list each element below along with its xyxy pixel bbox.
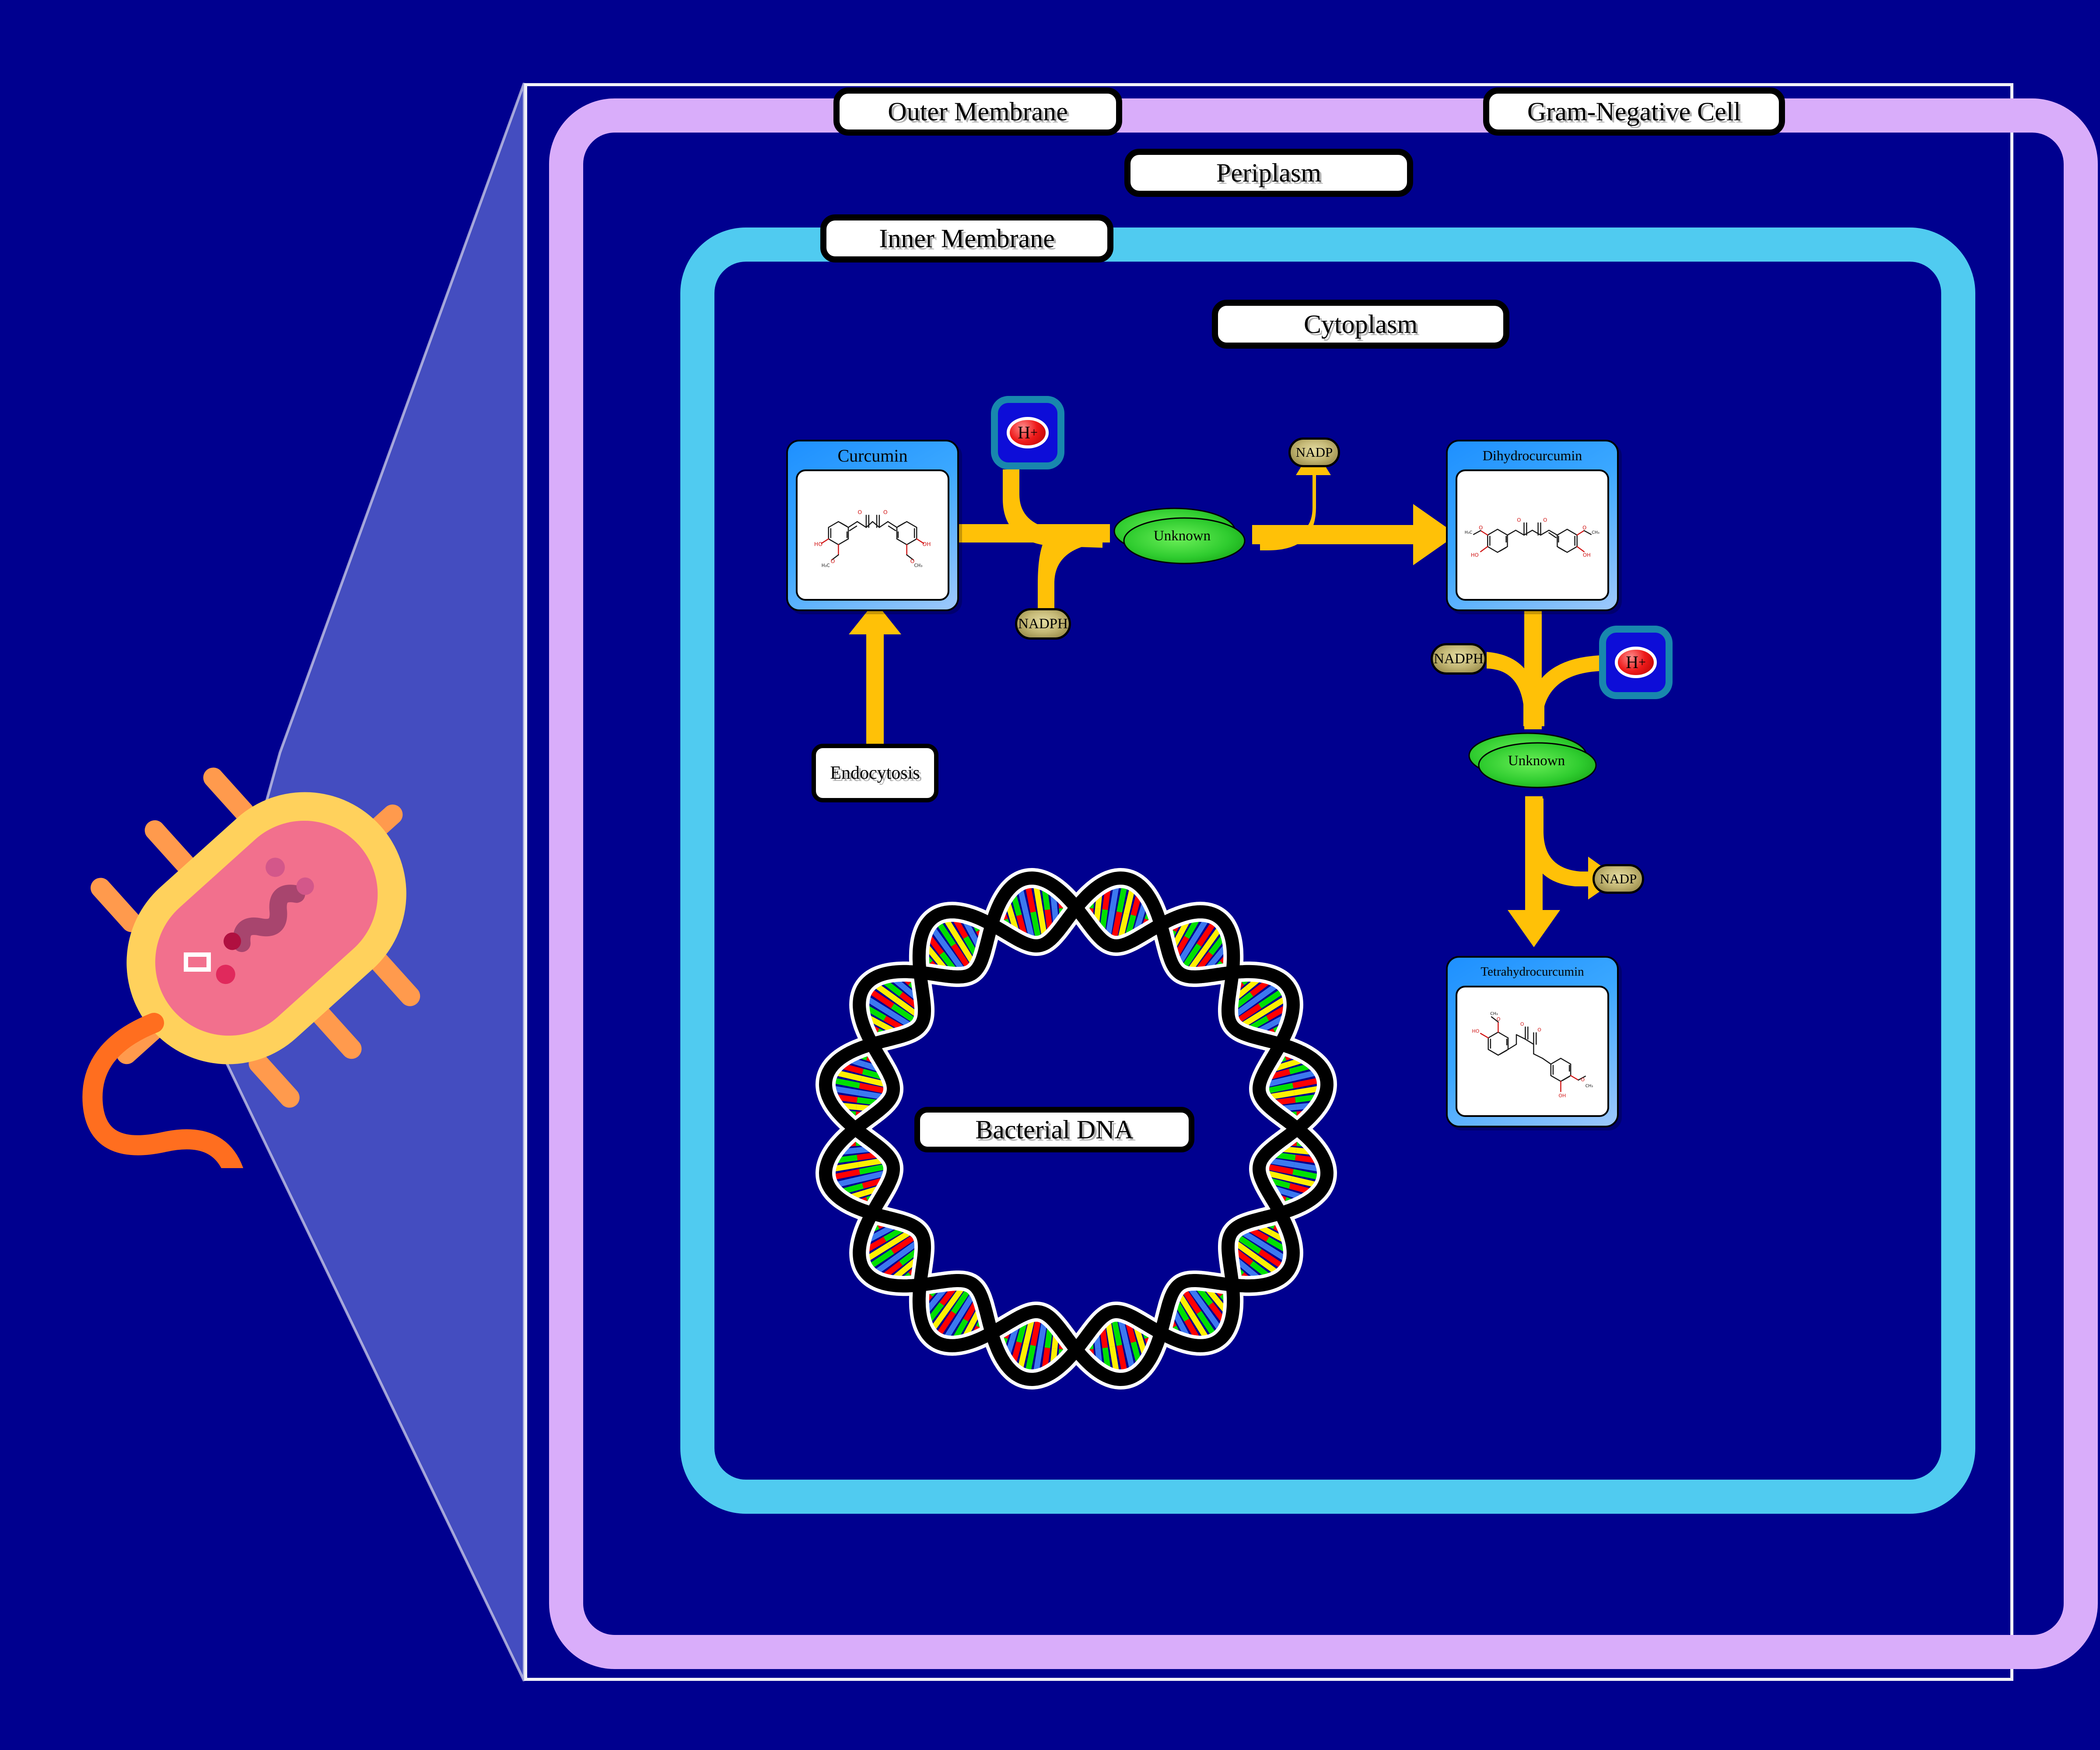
structure-curcumin: O O HO OH O O H₃C CH₃ bbox=[796, 469, 949, 601]
card-title-curcumin: Curcumin bbox=[788, 441, 957, 469]
label-outer-membrane: Outer Membrane bbox=[833, 87, 1122, 136]
structure-tetrahydrocurcumin: O O O CH₃ HO O CH₃ OH bbox=[1456, 986, 1609, 1117]
enzyme-node-step2[interactable]: Unknown bbox=[1461, 724, 1606, 798]
label-cytoplasm: Cytoplasm bbox=[1212, 300, 1509, 349]
svg-text:CH₃: CH₃ bbox=[1592, 530, 1599, 535]
svg-text:O: O bbox=[857, 509, 862, 515]
svg-text:O: O bbox=[1582, 525, 1586, 531]
svg-text:O: O bbox=[1517, 517, 1521, 523]
svg-text:OH: OH bbox=[1558, 1093, 1566, 1099]
metabolite-card-tetrahydrocurcumin[interactable]: Tetrahydrocurcumin bbox=[1446, 956, 1619, 1127]
cofactor-nadp-step2[interactable]: NADP bbox=[1592, 864, 1644, 894]
cofactor-nadph-step1[interactable]: NADPH bbox=[1015, 608, 1071, 640]
enzyme-label-step1: Unknown bbox=[1105, 499, 1253, 573]
svg-text:O: O bbox=[883, 509, 888, 515]
svg-text:O: O bbox=[1537, 1027, 1541, 1033]
svg-text:O: O bbox=[1520, 1022, 1524, 1027]
svg-text:HO: HO bbox=[1471, 552, 1479, 558]
svg-text:CH₃: CH₃ bbox=[914, 563, 922, 568]
card-title-tetrahydrocurcumin: Tetrahydrocurcumin bbox=[1448, 958, 1617, 986]
svg-text:H₃C: H₃C bbox=[822, 563, 830, 568]
svg-text:CH₃: CH₃ bbox=[1490, 1011, 1498, 1016]
svg-text:O: O bbox=[1497, 1016, 1501, 1022]
metabolite-card-curcumin[interactable]: Curcumin bbox=[786, 440, 959, 611]
enzyme-label-step2: Unknown bbox=[1461, 724, 1606, 798]
card-title-dihydrocurcumin: Dihydrocurcumin bbox=[1448, 441, 1617, 469]
svg-text:O: O bbox=[1479, 525, 1483, 531]
figure-canvas: Outer Membrane Gram-Negative Cell Peripl… bbox=[0, 0, 2100, 1750]
svg-text:HO: HO bbox=[814, 541, 822, 547]
svg-text:H₃C: H₃C bbox=[1465, 530, 1473, 535]
svg-text:CH₃: CH₃ bbox=[1585, 1084, 1593, 1088]
proton-sphere-icon: H+ bbox=[1007, 417, 1049, 448]
label-gram-negative-cell: Gram-Negative Cell bbox=[1483, 87, 1785, 136]
cofactor-nadph-step2[interactable]: NADPH bbox=[1431, 643, 1487, 675]
structure-dihydrocurcumin: O O O O H₃C CH₃ HO OH bbox=[1456, 469, 1609, 601]
enzyme-node-step1[interactable]: Unknown bbox=[1105, 499, 1253, 573]
bacterium-icon bbox=[57, 709, 494, 1168]
proton-sphere-icon: H+ bbox=[1615, 647, 1657, 678]
label-endocytosis[interactable]: Endocytosis bbox=[812, 744, 938, 802]
metabolite-card-dihydrocurcumin[interactable]: Dihydrocurcumin bbox=[1446, 440, 1619, 611]
label-periplasm: Periplasm bbox=[1124, 149, 1413, 197]
label-inner-membrane: Inner Membrane bbox=[820, 214, 1113, 262]
label-bacterial-dna: Bacterial DNA bbox=[914, 1107, 1194, 1152]
svg-text:OH: OH bbox=[922, 541, 931, 547]
svg-text:O: O bbox=[1581, 1077, 1585, 1083]
svg-text:O: O bbox=[831, 558, 835, 564]
svg-text:HO: HO bbox=[1472, 1029, 1479, 1034]
proton-badge-step1[interactable]: H+ bbox=[991, 396, 1064, 469]
cofactor-nadp-step1[interactable]: NADP bbox=[1288, 437, 1340, 467]
proton-badge-step2[interactable]: H+ bbox=[1599, 626, 1673, 699]
svg-text:OH: OH bbox=[1583, 552, 1591, 558]
svg-text:O: O bbox=[1543, 517, 1547, 523]
